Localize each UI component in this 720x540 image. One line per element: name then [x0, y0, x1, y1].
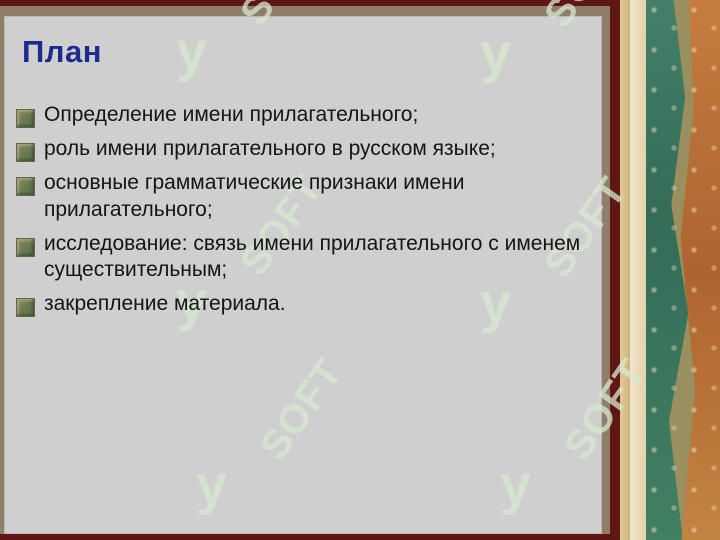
bullet-marker-icon [16, 143, 35, 162]
bullet-marker-icon [16, 177, 35, 196]
list-item-label: исследование: связь имени прилагательног… [44, 231, 584, 285]
list-item: Определение имени прилагательного; [10, 102, 600, 129]
list-item: исследование: связь имени прилагательног… [10, 231, 600, 285]
bullet-list: Определение имени прилагательного; роль … [10, 102, 600, 325]
art-floral-pattern [644, 0, 720, 540]
list-item-label: основные грамматические признаки имени п… [44, 170, 584, 224]
slide-title: План [22, 34, 102, 70]
bullet-marker-icon [16, 238, 35, 257]
list-item-label: закрепление материала. [44, 291, 286, 318]
list-item: закрепление материала. [10, 291, 600, 318]
art-band-cream-inner [630, 0, 646, 540]
slide-content: План Определение имени прилагательного; … [4, 10, 602, 528]
decorative-border-artwork [612, 0, 720, 540]
list-item: основные грамматические признаки имени п… [10, 170, 600, 224]
list-item-label: Определение имени прилагательного; [44, 102, 418, 129]
bullet-marker-icon [16, 109, 35, 128]
presentation-slide: y SOFT y SOFT y SOFT y SOFT y SOFT y SOF… [0, 0, 720, 540]
list-item-label: роль имени прилагательного в русском язы… [44, 136, 496, 163]
bullet-marker-icon [16, 298, 35, 317]
list-item: роль имени прилагательного в русском язы… [10, 136, 600, 163]
